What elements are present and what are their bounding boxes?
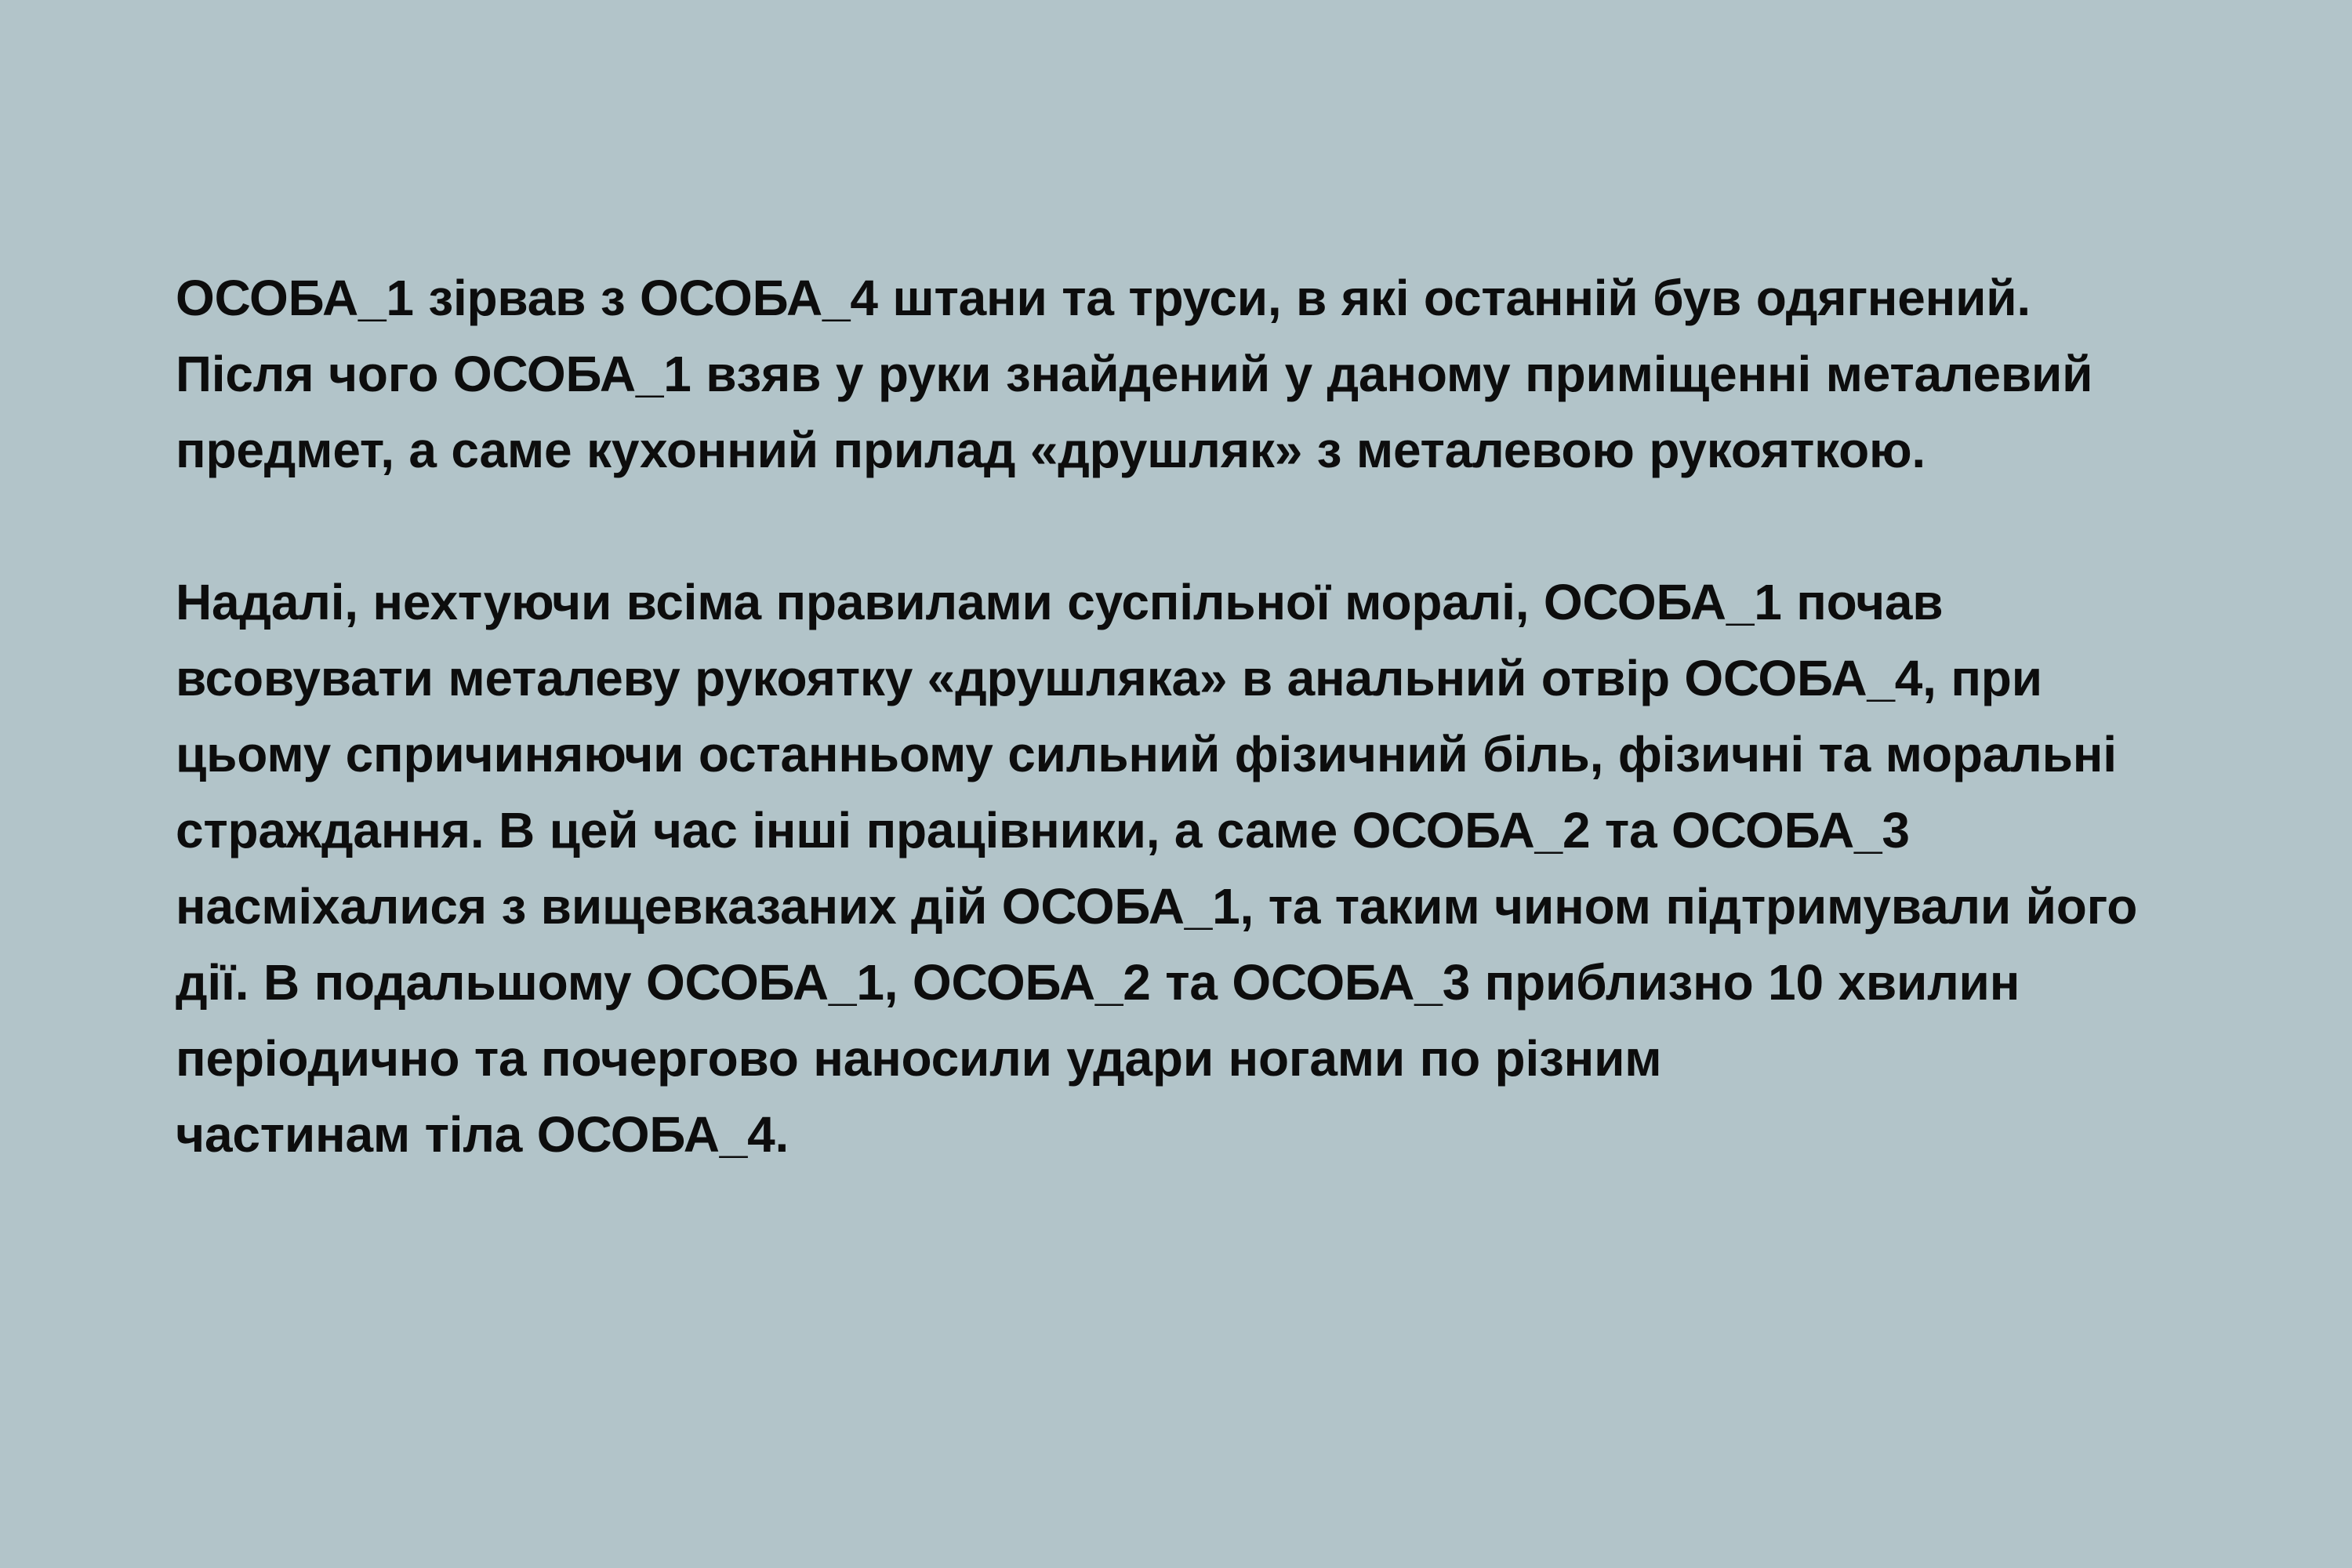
document-paragraph-1: ОСОБА_1 зірвав з ОСОБА_4 штани та труси,… <box>176 260 2183 488</box>
slide-canvas: ОСОБА_1 зірвав з ОСОБА_4 штани та труси,… <box>0 0 2352 1568</box>
document-text-block: ОСОБА_1 зірвав з ОСОБА_4 штани та труси,… <box>176 260 2183 1173</box>
document-paragraph-2: Надалі, нехтуючи всіма правилами суспіль… <box>176 564 2183 1173</box>
